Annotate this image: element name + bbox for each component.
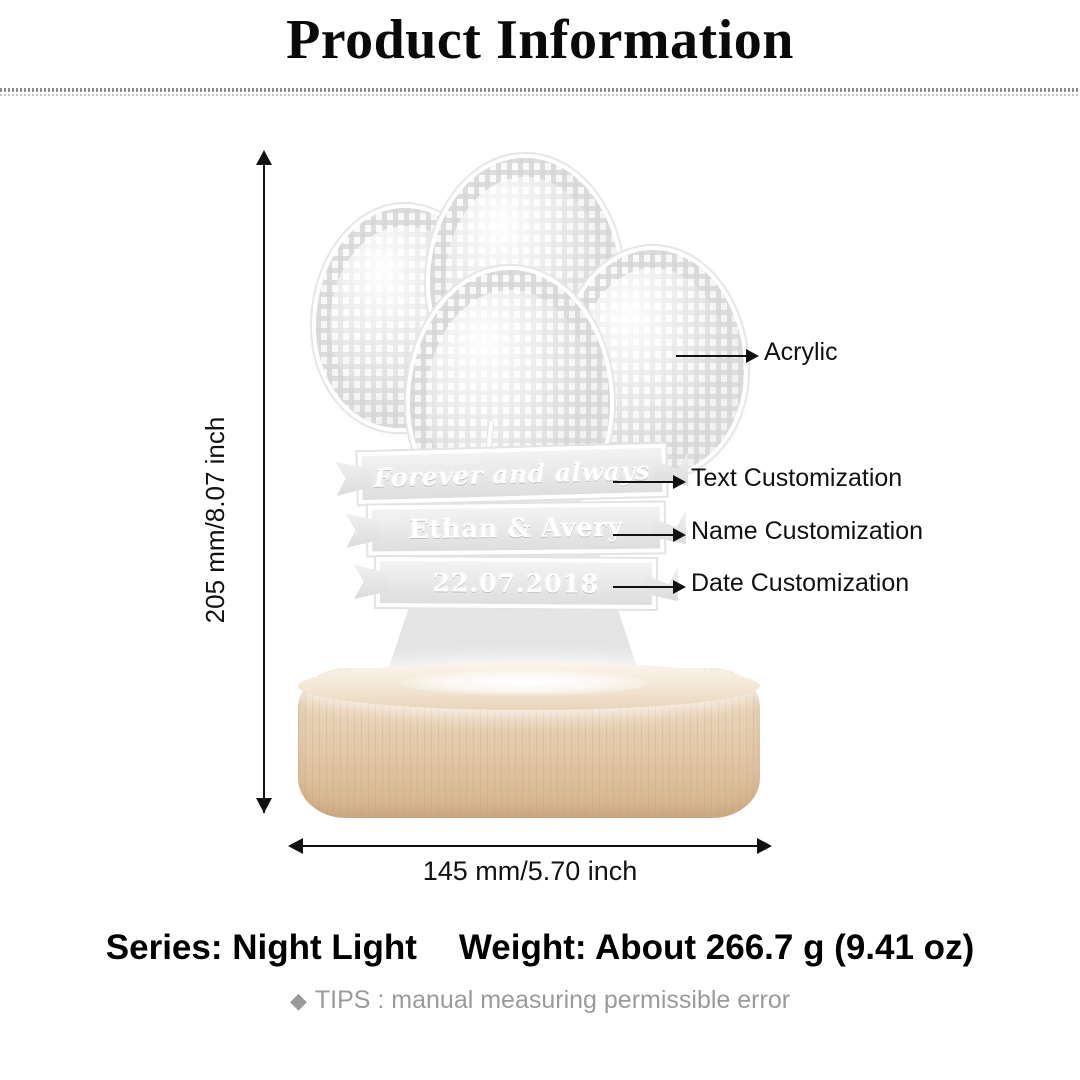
callout-acrylic: Acrylic: [676, 355, 766, 357]
led-glow: [400, 670, 650, 696]
engraved-date-banner: 22.07.2018: [380, 561, 652, 605]
callout-name-customization: Name Customization: [613, 534, 693, 536]
specs-row: Series: Night Light Weight: About 266.7 …: [0, 928, 1080, 968]
spec-series: Series: Night Light: [106, 928, 417, 968]
width-arrow-right-icon: [757, 838, 772, 854]
callout-label: Acrylic: [764, 338, 838, 367]
engraved-name-banner: Ethan & Avery: [372, 506, 660, 551]
callout-arrow-icon: [673, 580, 686, 594]
callout-leader-line: [613, 586, 675, 588]
callout-leader-line: [613, 534, 675, 536]
callout-text-customization: Text Customization: [613, 481, 693, 483]
height-arrow-bottom-icon: [256, 798, 272, 813]
banner-tail-left: [336, 461, 371, 496]
header-divider-secondary: [0, 94, 1080, 96]
engraved-date-value: 22.07.2018: [433, 568, 600, 598]
engraved-text-banner: Forever and always: [361, 448, 662, 500]
height-dimension-label: 205 mm/8.07 inch: [200, 390, 231, 650]
header-divider: [0, 88, 1080, 92]
width-dimension-label: 145 mm/5.70 inch: [300, 856, 760, 887]
callout-label: Date Customization: [691, 569, 909, 598]
callout-arrow-icon: [673, 528, 686, 542]
tips-text: TIPS : manual measuring permissible erro…: [315, 986, 790, 1014]
callout-arrow-icon: [673, 475, 686, 489]
banner-tail-left: [346, 513, 380, 547]
callout-leader-line: [613, 481, 675, 483]
banner-tail-left: [354, 565, 388, 599]
tips-note: ◆TIPS : manual measuring permissible err…: [0, 986, 1080, 1015]
product-information-page: Product Information Forever and always E…: [0, 0, 1080, 1080]
width-dimension-line: [300, 845, 760, 847]
height-dimension-line: [263, 163, 265, 813]
diamond-bullet-icon: ◆: [290, 988, 307, 1013]
engraved-text-value: Forever and always: [374, 456, 651, 493]
callout-leader-line: [676, 355, 748, 357]
callout-date-customization: Date Customization: [613, 586, 693, 588]
page-title: Product Information: [0, 8, 1080, 72]
callout-label: Name Customization: [691, 517, 923, 546]
spec-weight: Weight: About 266.7 g (9.41 oz): [459, 928, 974, 968]
callout-arrow-icon: [746, 349, 759, 363]
callout-label: Text Customization: [691, 464, 902, 493]
engraved-name-value: Ethan & Avery: [409, 513, 623, 545]
